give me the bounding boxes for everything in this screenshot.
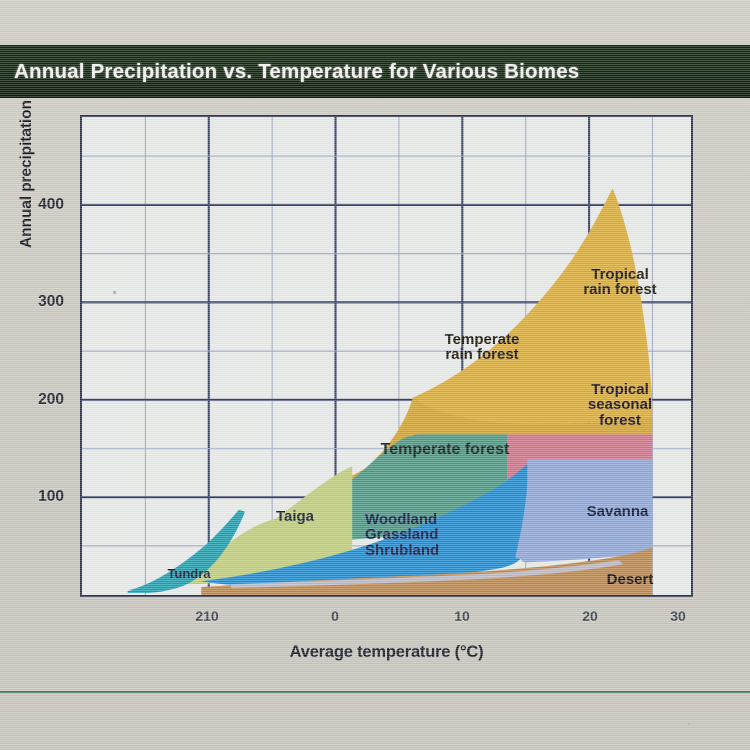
y-axis-label-wrap: Annual precipitation (cm)	[0, 98, 34, 618]
x-tick-label: 0	[305, 608, 365, 624]
region-savanna-fill	[521, 459, 652, 562]
x-tick-label: 10	[432, 608, 492, 624]
x-tick-label: 20	[560, 608, 620, 624]
biome-regions	[82, 117, 691, 595]
region-tropical-rain-forest	[413, 188, 652, 424]
y-tick-label: 100	[0, 488, 64, 506]
plot-area: Tundra Taiga Temperate forest Temperate …	[80, 115, 693, 597]
y-tick-label: 200	[0, 391, 64, 409]
chart-title-banner: Annual Precipitation vs. Temperature for…	[0, 45, 750, 98]
x-tick-label: 210	[177, 608, 237, 624]
photo-speck	[113, 291, 116, 294]
y-tick-label: 300	[0, 293, 64, 311]
x-axis-label: Average temperature (°C)	[80, 643, 693, 662]
y-tick-label: 400	[0, 196, 64, 214]
x-tick-label: 30	[648, 608, 708, 624]
page-title: Annual Precipitation vs. Temperature for…	[14, 60, 579, 84]
photo-speck	[688, 723, 690, 725]
biome-chart: Annual precipitation (cm) 400 300 200 10…	[0, 98, 750, 698]
